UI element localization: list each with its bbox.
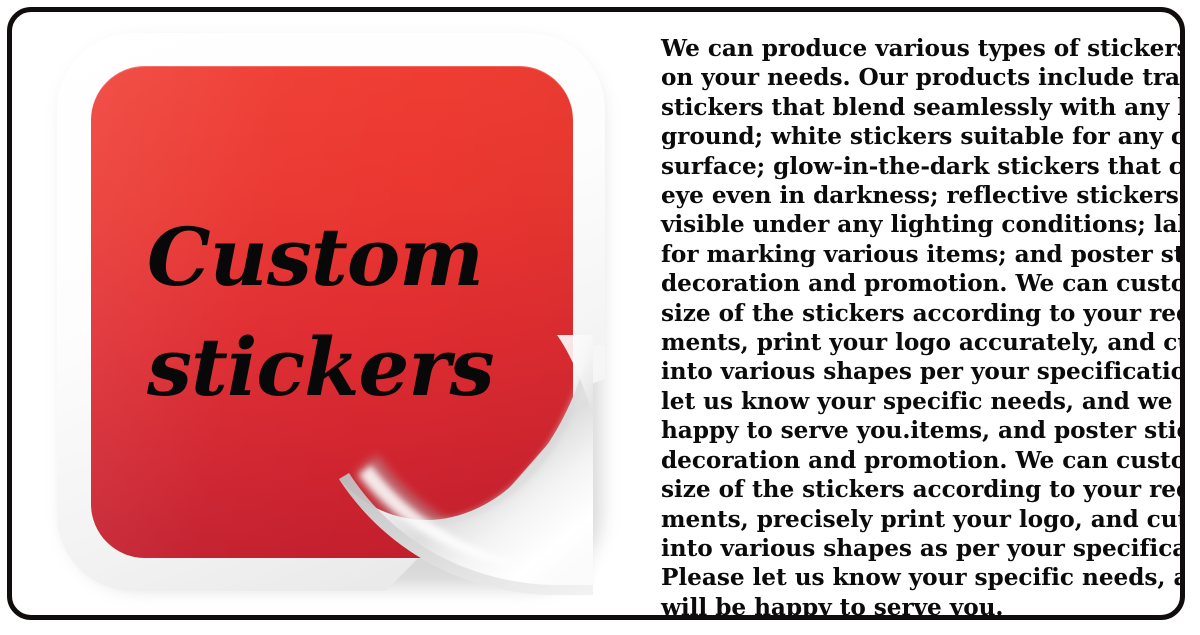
content-area: Custom stickers We can produce various t… <box>12 12 1180 615</box>
description-line: decoration and promotion. We can customi… <box>661 269 1168 298</box>
page-frame: Custom stickers We can produce various t… <box>7 7 1185 620</box>
description-panel: We can produce various types of stickers… <box>652 12 1180 615</box>
description-line: happy to serve you.items, and poster sti… <box>661 416 1168 445</box>
description-line: into various shapes per your specificati… <box>661 357 1168 386</box>
peel-curl-icon <box>325 323 615 598</box>
description-line: on your needs. Our products include tran… <box>661 63 1168 92</box>
description-line: Please let us know your specific needs, … <box>661 563 1168 592</box>
description-paragraph: We can produce various types of stickers… <box>661 34 1168 615</box>
sticker-illustration-panel: Custom stickers <box>12 12 652 615</box>
description-line: stickers that blend seamlessly with any … <box>661 93 1168 122</box>
description-line: eye even in darkness; reflective sticker… <box>661 181 1168 210</box>
description-line: size of the stickers according to your r… <box>661 475 1168 504</box>
description-line: ground; white stickers suitable for any … <box>661 122 1168 151</box>
description-line: decoration and promotion. We can customi… <box>661 446 1168 475</box>
description-line: surface; glow-in-the-dark stickers that … <box>661 152 1168 181</box>
description-line: will be happy to serve you. <box>661 593 1168 615</box>
description-line: visible under any lighting conditions; l… <box>661 210 1168 239</box>
description-line: size of the stickers according to your r… <box>661 299 1168 328</box>
description-line: let us know your specific needs, and we … <box>661 387 1168 416</box>
sticker-graphic: Custom stickers <box>57 33 607 593</box>
description-line: ments, precisely print your logo, and cu… <box>661 505 1168 534</box>
description-line: ments, print your logo accurately, and c… <box>661 328 1168 357</box>
description-line: We can produce various types of stickers… <box>661 34 1168 63</box>
description-line: into various shapes as per your specific… <box>661 534 1168 563</box>
description-line: for marking various items; and poster st… <box>661 240 1168 269</box>
sticker-peeling-corner <box>325 323 615 598</box>
